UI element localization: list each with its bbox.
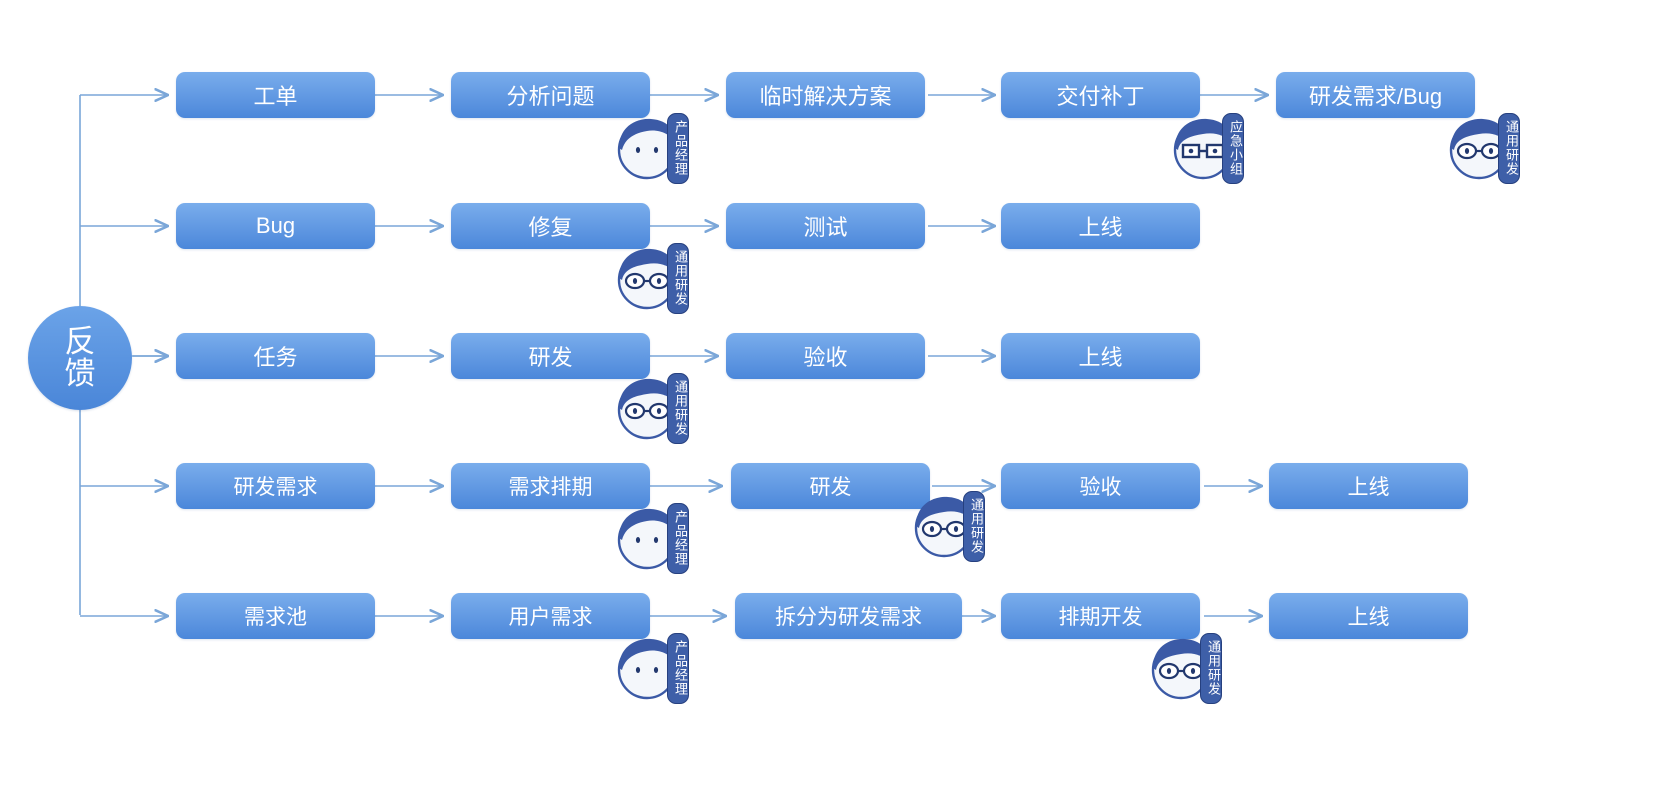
role-tag-developer: 通用研发: [667, 243, 689, 314]
node-label: 上线: [1348, 471, 1390, 501]
node-label: Bug: [256, 213, 295, 239]
node-label: 用户需求: [509, 601, 593, 631]
node-row-task-3[interactable]: 上线: [1001, 333, 1200, 379]
node-label: 工单: [253, 79, 297, 111]
node-label: 需求排期: [509, 471, 593, 501]
node-label: 研发: [810, 471, 852, 501]
node-label: 临时解决方案: [759, 79, 891, 111]
node-row-task-0[interactable]: 任务: [176, 333, 375, 379]
node-label: 修复: [528, 210, 572, 242]
role-tag-developer: 通用研发: [1498, 113, 1520, 184]
role-tag-product-manager: 产品经理: [667, 633, 689, 704]
flowchart-canvas: 反 馈 工单 分析问题 临时解决方案 交付补丁 研发需求/Bug Bug 修复 …: [0, 0, 1660, 785]
role-tag-developer: 通用研发: [1200, 633, 1222, 704]
node-row-bug-2[interactable]: 测试: [726, 203, 925, 249]
node-row-task-2[interactable]: 验收: [726, 333, 925, 379]
node-label: 研发: [528, 340, 572, 372]
role-tag-product-manager: 产品经理: [667, 503, 689, 574]
node-row-requirement-4[interactable]: 上线: [1269, 463, 1468, 509]
role-tag-developer: 通用研发: [963, 491, 985, 562]
start-node-label-line1: 反: [65, 326, 96, 358]
node-label: 上线: [1078, 210, 1122, 242]
node-label: 拆分为研发需求: [775, 601, 922, 631]
node-label: 研发需求/Bug: [1309, 79, 1442, 111]
role-tag-emergency-team: 应急小组: [1222, 113, 1244, 184]
node-label: 交付补丁: [1056, 79, 1144, 111]
role-tag-product-manager: 产品经理: [667, 113, 689, 184]
node-label: 排期开发: [1059, 601, 1143, 631]
node-label: 验收: [803, 340, 847, 372]
node-row-requirement-3[interactable]: 验收: [1001, 463, 1200, 509]
start-node-feedback[interactable]: 反 馈: [28, 306, 132, 410]
role-tag-developer: 通用研发: [667, 373, 689, 444]
start-node-label-line2: 馈: [65, 358, 96, 390]
node-label: 测试: [803, 210, 847, 242]
node-row-ticket-2[interactable]: 临时解决方案: [726, 72, 925, 118]
node-row-requirement-0[interactable]: 研发需求: [176, 463, 375, 509]
node-row-requirement-2[interactable]: 研发: [731, 463, 930, 509]
node-row-pool-4[interactable]: 上线: [1269, 593, 1468, 639]
node-label: 需求池: [244, 601, 307, 631]
node-row-bug-0[interactable]: Bug: [176, 203, 375, 249]
node-row-pool-2[interactable]: 拆分为研发需求: [735, 593, 962, 639]
node-label: 上线: [1348, 601, 1390, 631]
node-label: 上线: [1078, 340, 1122, 372]
node-row-pool-0[interactable]: 需求池: [176, 593, 375, 639]
node-label: 任务: [253, 340, 297, 372]
node-row-bug-3[interactable]: 上线: [1001, 203, 1200, 249]
node-label: 验收: [1080, 471, 1122, 501]
node-label: 研发需求: [234, 471, 318, 501]
node-row-ticket-0[interactable]: 工单: [176, 72, 375, 118]
node-label: 分析问题: [506, 79, 594, 111]
